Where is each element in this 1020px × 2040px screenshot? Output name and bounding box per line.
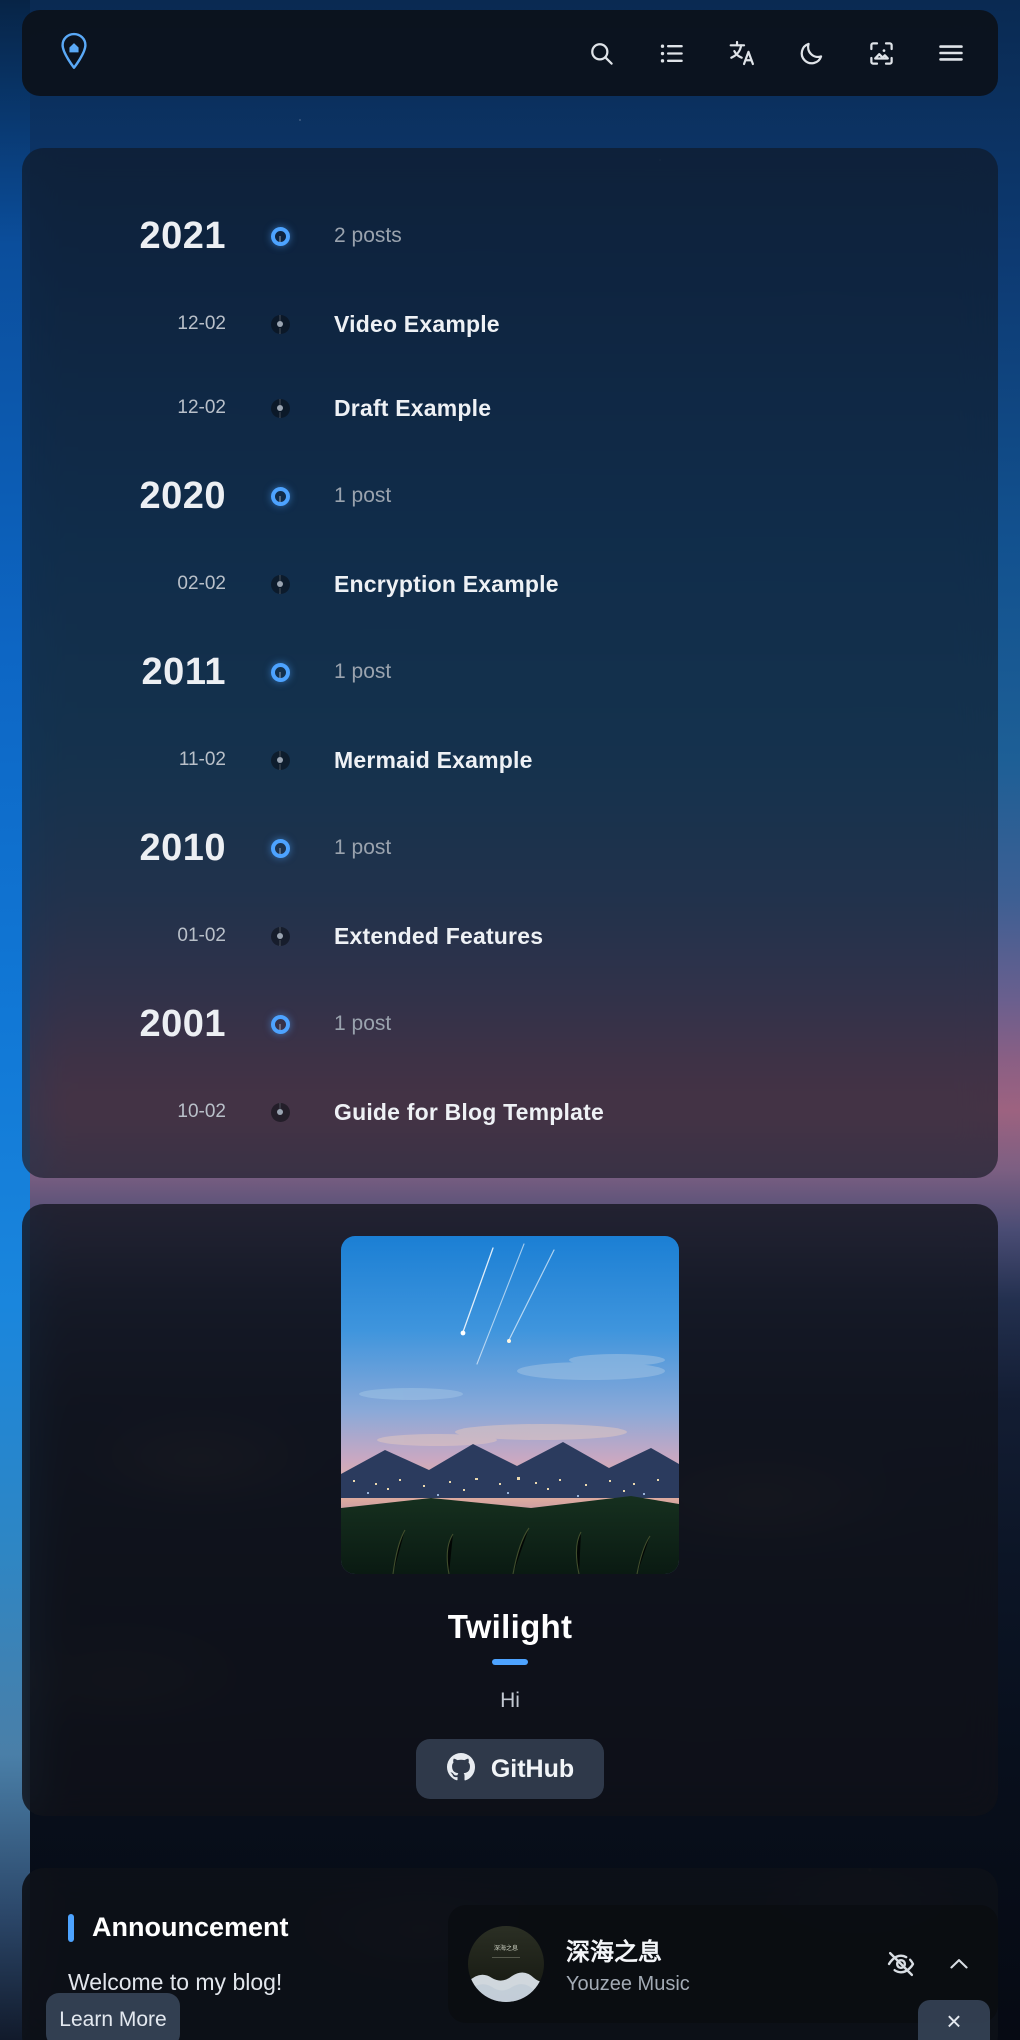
translate-icon[interactable] xyxy=(724,36,758,70)
timeline-date-cell: 10-02 xyxy=(22,1101,254,1123)
avatar xyxy=(341,1236,679,1574)
timeline-year: 2010 xyxy=(139,827,226,869)
timeline-year-dot xyxy=(271,227,290,246)
timeline-year-row: 20111 post xyxy=(22,626,998,718)
timeline-year-cell: 2001 xyxy=(22,1003,254,1046)
timeline-year: 2011 xyxy=(142,651,226,693)
timeline-post-row[interactable]: 02-02Encryption Example xyxy=(22,542,998,626)
timeline-post-count: 1 post xyxy=(334,484,391,507)
music-controls xyxy=(886,1949,972,1979)
music-player: 深海之息 深海之息 Youzee Music xyxy=(448,1905,998,2023)
eye-off-icon[interactable] xyxy=(886,1949,916,1979)
timeline-post-count: 1 post xyxy=(334,836,391,859)
timeline-post-dot xyxy=(271,927,290,946)
moon-icon[interactable] xyxy=(794,36,828,70)
header-nav-icons xyxy=(584,36,968,70)
timeline-post-row[interactable]: 12-02Draft Example xyxy=(22,366,998,450)
timeline-post-row[interactable]: 11-02Mermaid Example xyxy=(22,718,998,802)
timeline-post-count: 2 posts xyxy=(334,224,402,247)
timeline-post-title[interactable]: Video Example xyxy=(334,311,500,337)
logo-home-pin-button[interactable] xyxy=(52,31,96,75)
timeline-year-row: 20011 post xyxy=(22,978,998,1070)
timeline-title-cell: Extended Features xyxy=(306,923,998,950)
music-title: 深海之息 xyxy=(566,1932,690,1967)
timeline-post-title[interactable]: Mermaid Example xyxy=(334,747,533,773)
timeline-post-dot xyxy=(271,1103,290,1122)
timeline-year-cell: 2020 xyxy=(22,475,254,518)
timeline-date-cell: 01-02 xyxy=(22,925,254,947)
github-icon xyxy=(446,1752,476,1787)
timeline-year-row: 20212 posts xyxy=(22,190,998,282)
timeline-year-cell: 2010 xyxy=(22,827,254,870)
timeline-count-cell: 2 posts xyxy=(306,224,998,248)
timeline-year-row: 20101 post xyxy=(22,802,998,894)
hamburger-icon[interactable] xyxy=(934,36,968,70)
timeline-year: 2020 xyxy=(139,475,226,517)
timeline-marker xyxy=(254,227,306,246)
announcement-accent-bar xyxy=(68,1914,74,1942)
timeline-marker xyxy=(254,487,306,506)
timeline-post-title[interactable]: Encryption Example xyxy=(334,571,559,597)
timeline-marker xyxy=(254,315,306,334)
timeline-post-dot xyxy=(271,315,290,334)
timeline-year: 2001 xyxy=(139,1003,226,1045)
timeline-year-row: 20201 post xyxy=(22,450,998,542)
timeline-post-date: 12-02 xyxy=(177,313,226,334)
timeline-count-cell: 1 post xyxy=(306,484,998,508)
timeline-title-cell: Guide for Blog Template xyxy=(306,1099,998,1126)
timeline-post-row[interactable]: 12-02Video Example xyxy=(22,282,998,366)
timeline-post-row[interactable]: 01-02Extended Features xyxy=(22,894,998,978)
timeline-date-cell: 02-02 xyxy=(22,573,254,595)
timeline-post-count: 1 post xyxy=(334,660,391,683)
timeline-post-title[interactable]: Draft Example xyxy=(334,395,491,421)
learn-more-label: Learn More xyxy=(59,2008,166,2032)
search-icon[interactable] xyxy=(584,36,618,70)
github-link-button[interactable]: GitHub xyxy=(416,1739,604,1799)
timeline-post-date: 12-02 xyxy=(177,397,226,418)
site-header xyxy=(22,10,998,96)
timeline-post-date: 02-02 xyxy=(177,573,226,594)
timeline-year-dot xyxy=(271,487,290,506)
timeline-year-dot xyxy=(271,839,290,858)
timeline-year-dot xyxy=(271,663,290,682)
album-cover[interactable]: 深海之息 xyxy=(468,1926,544,2002)
timeline-marker xyxy=(254,399,306,418)
profile-card: Twilight Hi GitHub xyxy=(22,1204,998,1816)
timeline-post-date: 10-02 xyxy=(177,1101,226,1122)
timeline-marker xyxy=(254,1103,306,1122)
learn-more-button[interactable]: Learn More xyxy=(46,1993,180,2040)
music-meta: 深海之息 Youzee Music xyxy=(566,1932,690,1996)
profile-name: Twilight xyxy=(448,1608,573,1646)
chevron-up-icon[interactable] xyxy=(946,1951,972,1977)
timeline-post-date: 11-02 xyxy=(179,749,226,770)
name-underline xyxy=(492,1659,528,1665)
timeline-title-cell: Mermaid Example xyxy=(306,747,998,774)
timeline-date-cell: 11-02 xyxy=(22,749,254,771)
timeline-year: 2021 xyxy=(139,215,226,257)
timeline-post-dot xyxy=(271,399,290,418)
announcement-title: Announcement xyxy=(92,1912,289,1943)
timeline-marker xyxy=(254,839,306,858)
timeline-date-cell: 12-02 xyxy=(22,313,254,335)
timeline-year-cell: 2021 xyxy=(22,215,254,258)
profile-bio: Hi xyxy=(500,1689,520,1713)
timeline-count-cell: 1 post xyxy=(306,1012,998,1036)
timeline-year-cell: 2011 xyxy=(22,651,254,694)
timeline-post-row[interactable]: 10-02Guide for Blog Template xyxy=(22,1070,998,1154)
timeline-count-cell: 1 post xyxy=(306,836,998,860)
github-label: GitHub xyxy=(491,1755,574,1784)
timeline-count-cell: 1 post xyxy=(306,660,998,684)
close-button[interactable]: × xyxy=(918,2000,990,2040)
timeline-post-date: 01-02 xyxy=(177,925,226,946)
music-artist: Youzee Music xyxy=(566,1973,690,1996)
archive-timeline-card: 20212 posts12-02Video Example12-02Draft … xyxy=(22,148,998,1178)
timeline-title-cell: Draft Example xyxy=(306,395,998,422)
page-root: 20212 posts12-02Video Example12-02Draft … xyxy=(0,0,1020,2040)
close-icon: × xyxy=(946,2008,961,2034)
home-pin-icon xyxy=(58,32,90,75)
timeline-list: 20212 posts12-02Video Example12-02Draft … xyxy=(22,148,998,1178)
timeline-post-count: 1 post xyxy=(334,1012,391,1035)
timeline-marker xyxy=(254,751,306,770)
timeline-post-dot xyxy=(271,575,290,594)
list-icon[interactable] xyxy=(654,36,688,70)
timeline-date-cell: 12-02 xyxy=(22,397,254,419)
timeline-marker xyxy=(254,1015,306,1034)
timeline-marker xyxy=(254,927,306,946)
timeline-post-title[interactable]: Extended Features xyxy=(334,923,543,949)
timeline-title-cell: Video Example xyxy=(306,311,998,338)
timeline-post-dot xyxy=(271,751,290,770)
timeline-marker xyxy=(254,575,306,594)
svg-text:深海之息: 深海之息 xyxy=(494,1944,518,1952)
timeline-title-cell: Encryption Example xyxy=(306,571,998,598)
image-frame-icon[interactable] xyxy=(864,36,898,70)
timeline-post-title[interactable]: Guide for Blog Template xyxy=(334,1099,604,1125)
timeline-year-dot xyxy=(271,1015,290,1034)
timeline-marker xyxy=(254,663,306,682)
